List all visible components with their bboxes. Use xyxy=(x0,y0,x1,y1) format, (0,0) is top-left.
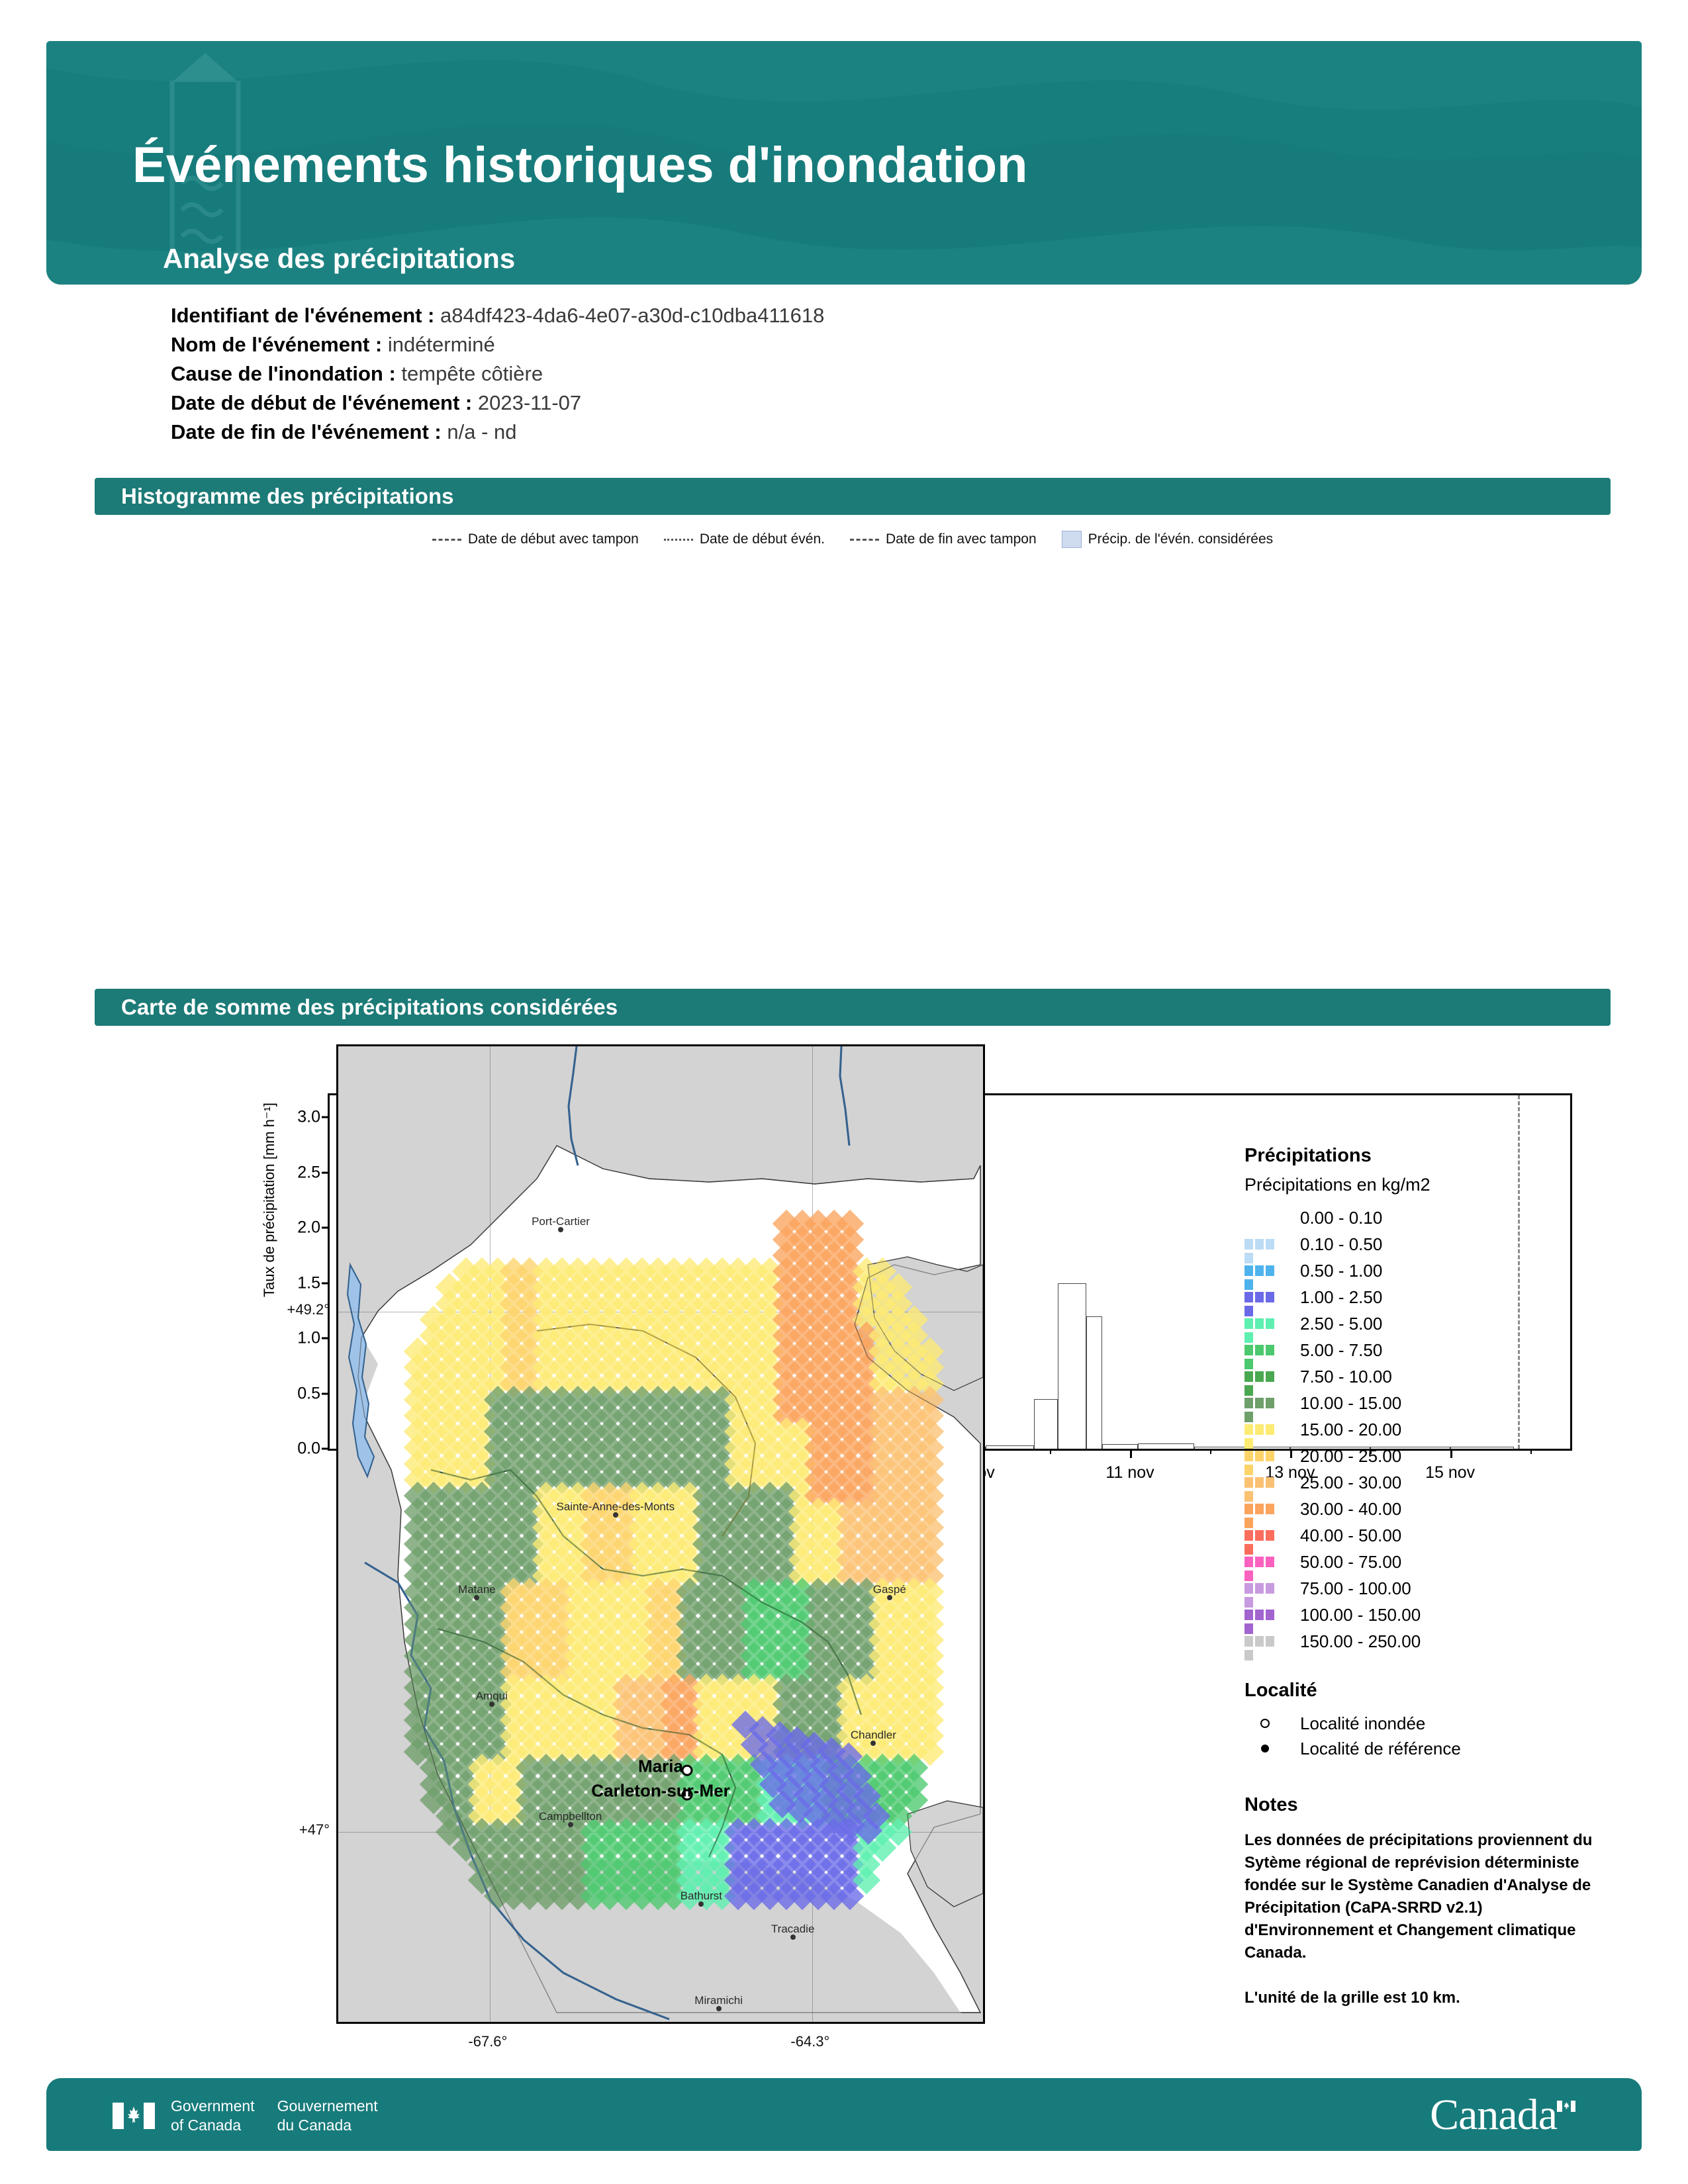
y-tick-label: 1.0 xyxy=(297,1329,320,1348)
metadata-value-event-id: a84df423-4da6-4e07-a30d-c10dba411618 xyxy=(440,304,824,327)
y-tick-mark xyxy=(322,1448,330,1450)
precipitation-histogram: Date de début avec tampon Date de début … xyxy=(95,523,1611,986)
map-city-label: Campbellton xyxy=(539,1810,602,1823)
page-title: Événements historiques d'inondation xyxy=(132,140,1027,191)
legend-color-swatch-icon xyxy=(1244,1318,1286,1329)
legend-class-list: 0.00 - 0.100.10 - 0.500.50 - 1.001.00 - … xyxy=(1244,1205,1615,1655)
legend-class-row: 1.00 - 2.50 xyxy=(1244,1284,1615,1310)
y-tick-mark xyxy=(322,1338,330,1340)
metadata-value-start-date: 2023-11-07 xyxy=(478,391,581,414)
legend-class-label: 10.00 - 15.00 xyxy=(1300,1393,1401,1414)
legend-class-row: 10.00 - 15.00 xyxy=(1244,1390,1615,1416)
metadata-label-event-name: Nom de l'événement : xyxy=(171,333,382,356)
map-city-label: Maria xyxy=(638,1756,683,1776)
filled-dot-icon xyxy=(1244,1745,1286,1752)
legend-color-swatch-icon xyxy=(1244,1212,1286,1223)
dotted-line-icon xyxy=(664,539,693,541)
legend-class-label: 7.50 - 10.00 xyxy=(1300,1367,1392,1387)
precipitation-sum-map[interactable]: Port-CartierSainte-Anne-des-MontsMataneG… xyxy=(336,1044,985,2024)
legend-locality-flooded-label: Localité inondée xyxy=(1300,1713,1425,1734)
legend-color-swatch-icon xyxy=(1244,1477,1286,1488)
histogram-legend: Date de début avec tampon Date de début … xyxy=(95,523,1611,556)
open-circle-icon xyxy=(1244,1719,1286,1728)
map-marker-flooded-locality[interactable] xyxy=(682,1764,693,1776)
event-metadata-list: Identifiant de l'événement : a84df423-4d… xyxy=(171,301,1230,447)
legend-class-row: 5.00 - 7.50 xyxy=(1244,1337,1615,1363)
canada-wordmark: Canada xyxy=(1430,2090,1575,2140)
map-longitude-label: -67.6° xyxy=(468,2033,507,2050)
legend-color-swatch-icon xyxy=(1244,1530,1286,1541)
dashed-line-icon xyxy=(432,539,461,541)
legend-class-label: 1.00 - 2.50 xyxy=(1300,1287,1382,1308)
notes-paragraph-1: Les données de précipitations proviennen… xyxy=(1244,1829,1615,1964)
legend-label-start-buffer: Date de début avec tampon xyxy=(468,531,639,547)
legend-color-swatch-icon xyxy=(1244,1610,1286,1620)
histogram-y-axis-label: Taux de précipitation [mm h⁻¹] xyxy=(261,1054,278,1345)
y-tick-label: 2.5 xyxy=(297,1163,320,1182)
x-tick-mark xyxy=(1130,1449,1132,1458)
x-minor-tick xyxy=(1050,1449,1051,1454)
legend-class-label: 0.00 - 0.10 xyxy=(1300,1208,1382,1228)
histogram-bar-outline xyxy=(1058,1283,1086,1449)
goc-wordmark-text: Government of Canada Gouvernement du Can… xyxy=(171,2097,378,2135)
map-longitude-label: -64.3° xyxy=(790,2033,829,2050)
legend-item-end-buffer: Date de fin avec tampon xyxy=(850,531,1037,547)
y-tick-mark xyxy=(322,1171,330,1173)
legend-class-row: 2.50 - 5.00 xyxy=(1244,1310,1615,1337)
legend-class-row: 15.00 - 20.00 xyxy=(1244,1416,1615,1443)
legend-color-swatch-icon xyxy=(1244,1504,1286,1514)
legend-class-row: 40.00 - 50.00 xyxy=(1244,1522,1615,1549)
legend-color-swatch-icon xyxy=(1244,1424,1286,1435)
legend-class-label: 0.50 - 1.00 xyxy=(1300,1261,1382,1281)
y-tick-mark xyxy=(322,1282,330,1284)
section-header-histogram: Histogramme des précipitations xyxy=(95,478,1611,515)
y-tick-label: 0.0 xyxy=(297,1439,320,1459)
metadata-value-end-date: n/a - nd xyxy=(447,420,516,443)
map-city-label: Matane xyxy=(458,1583,496,1596)
histogram-bar-outline xyxy=(1034,1399,1058,1449)
goc-english: Government of Canada xyxy=(171,2097,255,2135)
legend-class-row: 0.00 - 0.10 xyxy=(1244,1205,1615,1231)
legend-locality-reference: Localité de référence xyxy=(1244,1736,1615,1761)
legend-class-label: 15.00 - 20.00 xyxy=(1300,1420,1401,1440)
histogram-bar-outline xyxy=(1086,1316,1102,1449)
map-city-label: Bathurst xyxy=(680,1889,722,1903)
map-city-label: Miramichi xyxy=(694,1994,743,2007)
legend-class-row: 25.00 - 30.00 xyxy=(1244,1469,1615,1496)
canada-wordmark-text: Canada xyxy=(1430,2091,1557,2139)
metadata-row-event-id: Identifiant de l'événement : a84df423-4d… xyxy=(171,301,1230,330)
color-swatch-icon xyxy=(1062,531,1082,548)
goc-en-line1: Government xyxy=(171,2097,255,2115)
goc-fr-line1: Gouvernement xyxy=(277,2097,378,2115)
legend-color-swatch-icon xyxy=(1244,1345,1286,1355)
legend-color-swatch-icon xyxy=(1244,1371,1286,1382)
legend-class-label: 50.00 - 75.00 xyxy=(1300,1552,1401,1572)
y-tick-label: 2.0 xyxy=(297,1218,320,1238)
map-city-label: Gaspé xyxy=(873,1583,906,1596)
page-footer: Government of Canada Gouvernement du Can… xyxy=(46,2078,1642,2151)
legend-class-label: 0.10 - 0.50 xyxy=(1300,1234,1382,1255)
legend-class-label: 30.00 - 40.00 xyxy=(1300,1499,1401,1520)
legend-locality-reference-label: Localité de référence xyxy=(1300,1739,1461,1759)
legend-label-event-start: Date de début évén. xyxy=(700,531,825,547)
y-tick-mark xyxy=(322,1392,330,1394)
legend-class-label: 75.00 - 100.00 xyxy=(1300,1578,1411,1599)
canada-wordmark-flag-icon xyxy=(1557,2101,1575,2112)
y-tick-label: 0.5 xyxy=(297,1384,320,1403)
metadata-label-start-date: Date de début de l'événement : xyxy=(171,391,472,414)
legend-color-swatch-icon xyxy=(1244,1292,1286,1302)
legend-subtitle: Précipitations en kg/m2 xyxy=(1244,1175,1615,1195)
map-city-label: Amqui xyxy=(476,1690,508,1703)
page-subtitle: Analyse des précipitations xyxy=(163,245,515,273)
canada-flag-icon xyxy=(113,2103,155,2129)
x-minor-tick xyxy=(1210,1449,1211,1454)
legend-label-end-buffer: Date de fin avec tampon xyxy=(886,531,1037,547)
legend-class-label: 40.00 - 50.00 xyxy=(1300,1525,1401,1546)
legend-class-label: 100.00 - 150.00 xyxy=(1300,1605,1421,1625)
metadata-label-flood-cause: Cause de l'inondation : xyxy=(171,362,396,385)
legend-class-row: 100.00 - 150.00 xyxy=(1244,1602,1615,1628)
legend-label-considered-precip: Précip. de l'évén. considérées xyxy=(1088,531,1274,547)
legend-locality-flooded: Localité inondée xyxy=(1244,1711,1615,1736)
section-header-histogram-label: Histogramme des précipitations xyxy=(121,484,453,509)
section-header-map: Carte de somme des précipitations consid… xyxy=(95,989,1611,1026)
legend-color-swatch-icon xyxy=(1244,1557,1286,1567)
legend-class-label: 2.50 - 5.00 xyxy=(1300,1314,1382,1334)
legend-item-considered-precip: Précip. de l'évén. considérées xyxy=(1062,531,1274,548)
legend-color-swatch-icon xyxy=(1244,1398,1286,1408)
map-city-label: Port-Cartier xyxy=(532,1215,590,1228)
metadata-row-event-name: Nom de l'événement : indéterminé xyxy=(171,330,1230,359)
legend-color-swatch-icon xyxy=(1244,1583,1286,1594)
legend-color-swatch-icon xyxy=(1244,1239,1286,1250)
legend-class-row: 30.00 - 40.00 xyxy=(1244,1496,1615,1522)
dashed-line-icon-2 xyxy=(850,539,879,541)
goc-fr-line2: du Canada xyxy=(277,2116,352,2134)
legend-class-row: 7.50 - 10.00 xyxy=(1244,1363,1615,1390)
y-tick-mark xyxy=(322,1116,330,1118)
y-tick-mark xyxy=(322,1227,330,1229)
legend-color-swatch-icon xyxy=(1244,1451,1286,1461)
legend-title: Précipitations xyxy=(1244,1145,1615,1167)
section-header-map-label: Carte de somme des précipitations consid… xyxy=(121,995,618,1020)
metadata-label-event-id: Identifiant de l'événement : xyxy=(171,304,434,327)
legend-item-start-buffer: Date de début avec tampon xyxy=(432,531,639,547)
legend-color-swatch-icon xyxy=(1244,1636,1286,1647)
metadata-label-end-date: Date de fin de l'événement : xyxy=(171,420,442,443)
map-legend-panel: Précipitations Précipitations en kg/m2 0… xyxy=(1244,1145,1615,2009)
metadata-row-flood-cause: Cause de l'inondation : tempête côtière xyxy=(171,359,1230,388)
map-city-label: Sainte-Anne-des-Monts xyxy=(557,1500,675,1514)
map-latitude-label: +49.2° xyxy=(287,1301,330,1318)
notes-paragraph-2: L'unité de la grille est 10 km. xyxy=(1244,1987,1615,2009)
histogram-bar-outline xyxy=(1102,1444,1138,1449)
legend-class-row: 150.00 - 250.00 xyxy=(1244,1628,1615,1655)
map-overlay-boundaries xyxy=(338,1046,983,2022)
histogram-bar-outline xyxy=(1138,1443,1194,1449)
y-tick-label: 3.0 xyxy=(297,1108,320,1127)
metadata-value-flood-cause: tempête côtière xyxy=(401,362,543,385)
government-of-canada-signature: Government of Canada Gouvernement du Can… xyxy=(113,2097,378,2135)
metadata-value-event-name: indéterminé xyxy=(388,333,495,356)
metadata-row-start-date: Date de début de l'événement : 2023-11-0… xyxy=(171,388,1230,418)
legend-class-row: 50.00 - 75.00 xyxy=(1244,1549,1615,1575)
map-city-label: Carleton-sur-Mer xyxy=(591,1780,729,1801)
x-tick-label: 11 nov xyxy=(1105,1463,1154,1482)
legend-class-label: 5.00 - 7.50 xyxy=(1300,1340,1382,1361)
legend-class-label: 25.00 - 30.00 xyxy=(1300,1473,1401,1493)
goc-en-line2: of Canada xyxy=(171,2116,241,2134)
legend-class-row: 0.10 - 0.50 xyxy=(1244,1231,1615,1257)
legend-class-row: 20.00 - 25.00 xyxy=(1244,1443,1615,1469)
map-latitude-label: +47° xyxy=(299,1821,330,1839)
notes-title: Notes xyxy=(1244,1794,1615,1816)
page-header-banner: Événements historiques d'inondation Anal… xyxy=(46,41,1642,285)
goc-french: Gouvernement du Canada xyxy=(277,2097,378,2135)
map-city-label: Chandler xyxy=(851,1729,896,1742)
map-city-label: Tracadie xyxy=(771,1923,815,1936)
legend-class-label: 150.00 - 250.00 xyxy=(1300,1631,1421,1652)
legend-class-row: 75.00 - 100.00 xyxy=(1244,1575,1615,1602)
y-tick-label: 1.5 xyxy=(297,1273,320,1293)
legend-color-swatch-icon xyxy=(1244,1265,1286,1276)
legend-item-event-start: Date de début évén. xyxy=(664,531,825,547)
legend-locality-title: Localité xyxy=(1244,1680,1615,1702)
legend-class-row: 0.50 - 1.00 xyxy=(1244,1257,1615,1284)
metadata-row-end-date: Date de fin de l'événement : n/a - nd xyxy=(171,418,1230,447)
legend-class-label: 20.00 - 25.00 xyxy=(1300,1446,1401,1467)
histogram-bar-outline xyxy=(986,1445,1034,1449)
